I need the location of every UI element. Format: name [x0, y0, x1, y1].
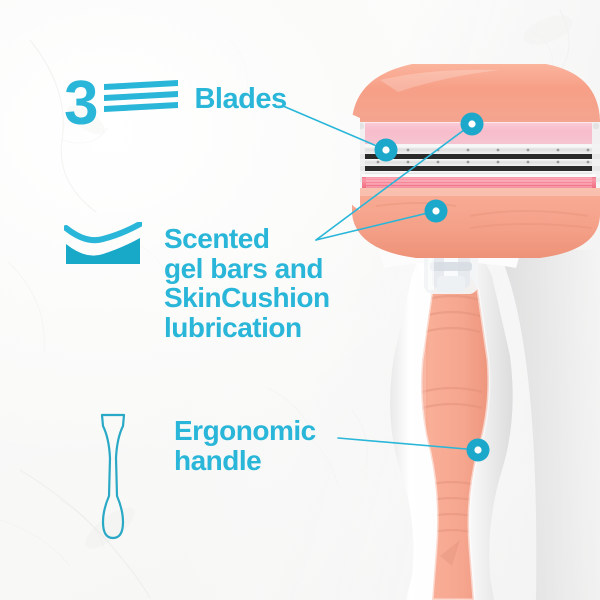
feature-gel-bars: Scented gel bars and SkinCushion lubrica…: [64, 222, 330, 343]
three-blades-icon: [102, 78, 180, 118]
feature-label-gel: Scented gel bars and SkinCushion lubrica…: [164, 224, 330, 343]
blade-count: 3: [64, 79, 96, 130]
feature-blades: 3 Blades: [64, 78, 287, 130]
striped-guard: [362, 174, 596, 188]
lower-gel-bar: [352, 186, 600, 258]
cartridge-frame: [337, 112, 360, 210]
product-drop-shadow: [498, 250, 600, 600]
handle-outline-icon: [90, 412, 136, 542]
gel-bar-wave-icon: [64, 222, 142, 268]
feature-label-handle: Ergonomic handle: [174, 416, 316, 475]
feature-handle: Ergonomic handle: [90, 412, 316, 542]
feature-label-blades: Blades: [194, 84, 286, 115]
infographic-canvas: 3 Blades Scented gel bars and SkinCushio…: [0, 0, 600, 600]
